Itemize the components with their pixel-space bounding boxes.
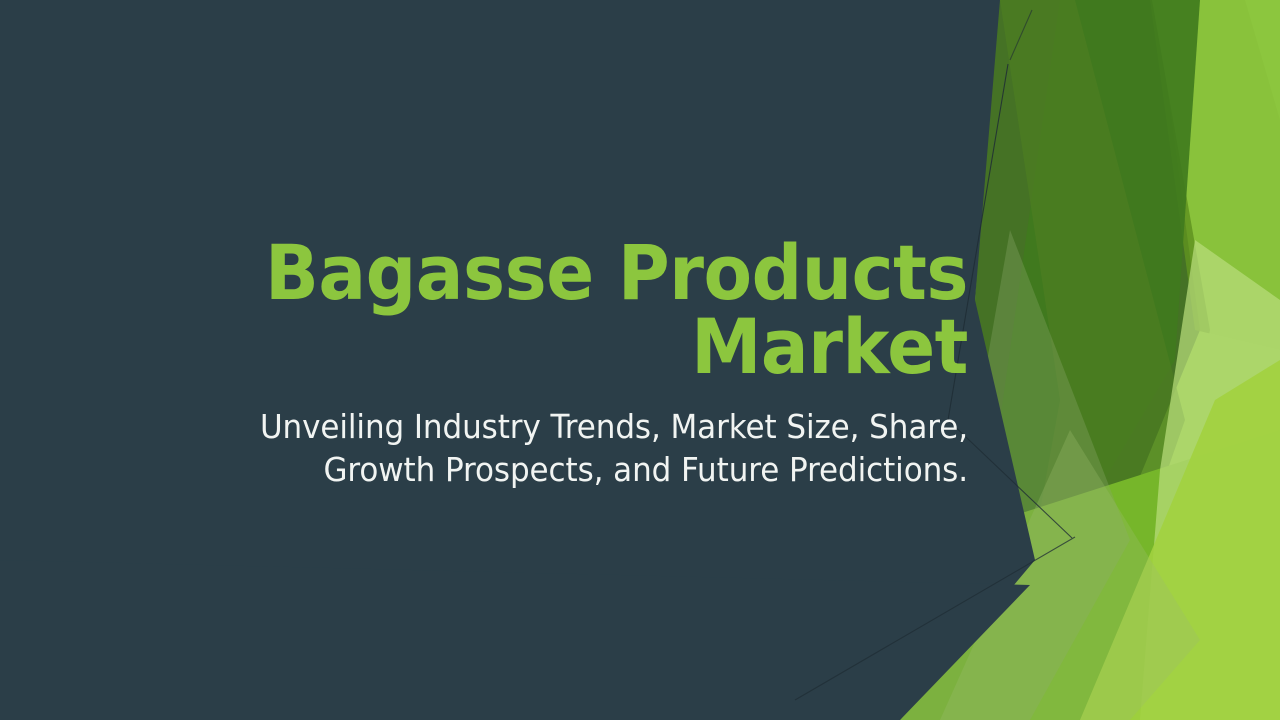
page-title: Bagasse Products Market: [207, 236, 968, 385]
presentation-slide: Bagasse Products Market Unveiling Indust…: [0, 0, 1280, 720]
title-text-block: Bagasse Products Market Unveiling Indust…: [150, 236, 968, 492]
slide-subtitle: Unveiling Industry Trends, Market Size, …: [199, 405, 968, 492]
slide-content: Bagasse Products Market Unveiling Indust…: [0, 0, 1280, 720]
